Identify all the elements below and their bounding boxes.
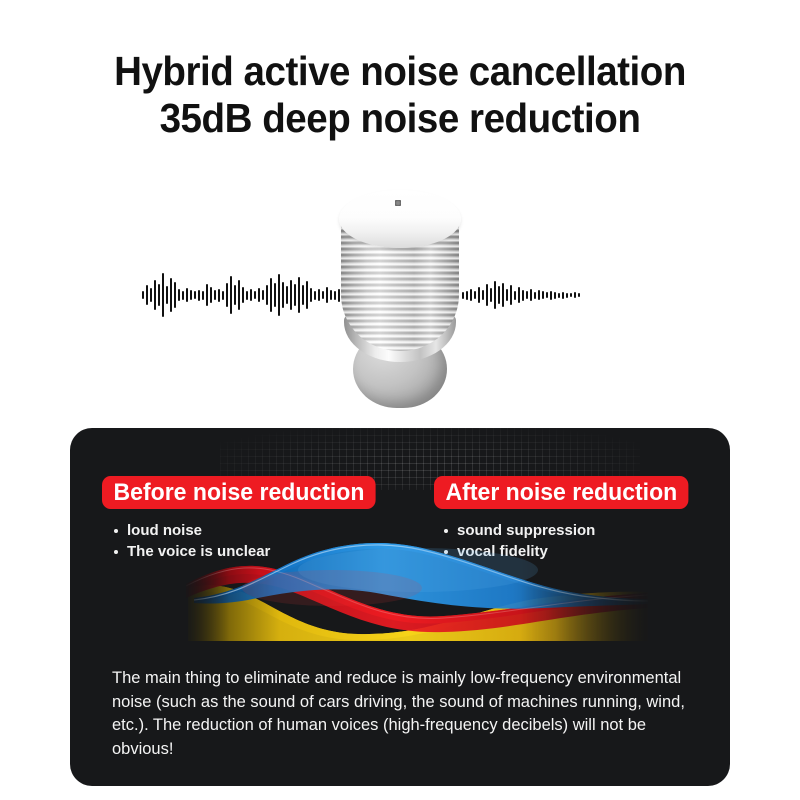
explanation-paragraph: The main thing to eliminate and reduce i… bbox=[112, 666, 694, 760]
page-title-line-2: 35dB deep noise reduction bbox=[24, 95, 776, 142]
earbud-top-cap bbox=[339, 190, 461, 248]
loud-input-waveform-icon bbox=[218, 170, 340, 420]
sound-wave-graphic bbox=[182, 536, 652, 641]
noise-comparison-panel: Before noise reduction After noise reduc… bbox=[70, 428, 730, 786]
wireless-earbud-image bbox=[331, 188, 469, 418]
page-title: Hybrid active noise cancellation 35dB de… bbox=[24, 48, 776, 142]
microphone-hole-icon bbox=[395, 200, 401, 206]
page-root: Hybrid active noise cancellation 35dB de… bbox=[0, 0, 800, 800]
after-noise-reduction-badge: After noise reduction bbox=[434, 476, 689, 509]
page-title-line-1: Hybrid active noise cancellation bbox=[114, 48, 686, 94]
before-noise-reduction-badge: Before noise reduction bbox=[102, 476, 376, 509]
product-hero bbox=[0, 170, 800, 420]
reduced-output-waveform-icon bbox=[462, 170, 570, 420]
